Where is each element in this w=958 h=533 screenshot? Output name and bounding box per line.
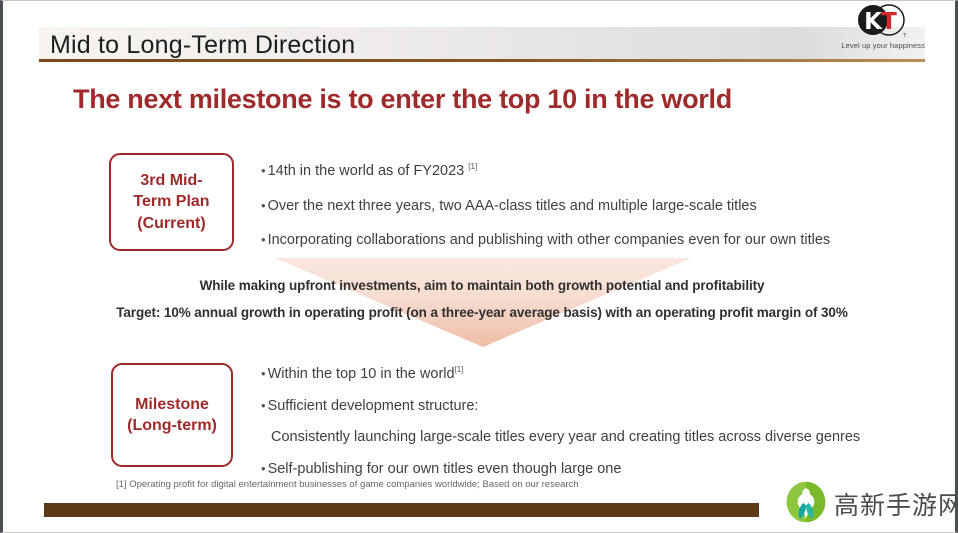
watermark: 高新手游网 (784, 478, 944, 528)
box2-line-2: (Long-term) (127, 417, 217, 434)
page-title: Mid to Long-Term Direction (50, 31, 355, 60)
bullet-marker: • (261, 232, 266, 247)
bullet-marker: • (261, 163, 266, 178)
bullet-item: •14th in the world as of FY2023 [1] (261, 162, 830, 182)
bullet-text: Sufficient development structure: (268, 398, 479, 414)
bullet-item-continuation: Consistently launching large-scale title… (261, 428, 860, 448)
middle-statement: While making upfront investments, aim to… (3, 278, 958, 320)
box1-line-2: Term Plan (133, 193, 209, 210)
box1-line-1: 3rd Mid- (140, 172, 202, 189)
bullet-marker: • (261, 198, 266, 213)
slide: Mid to Long-Term Direction K T TM Level … (0, 0, 958, 533)
bullet-item: •Within the top 10 in the world[1] (261, 365, 860, 385)
bullet-item: •Self-publishing for our own titles even… (261, 460, 860, 480)
footnote-ref: [1] (455, 365, 464, 374)
bullet-list-current-plan: •14th in the world as of FY2023 [1] •Ove… (261, 162, 830, 266)
bullet-marker: • (261, 398, 266, 413)
bullet-text: Over the next three years, two AAA-class… (268, 198, 757, 214)
middle-line-1: While making upfront investments, aim to… (3, 278, 958, 293)
watermark-logo-icon (784, 480, 828, 524)
bottom-accent-bar (44, 503, 759, 517)
footnote-ref: [1] (468, 162, 477, 171)
bullet-item: •Sufficient development structure: (261, 397, 860, 417)
svg-text:TM: TM (902, 33, 907, 39)
label-box-milestone: Milestone (Long-term) (111, 363, 233, 467)
bullet-text: Incorporating collaborations and publish… (268, 232, 831, 248)
label-box-3rd-mid-term-plan: 3rd Mid- Term Plan (Current) (109, 153, 234, 251)
bullet-text: Self-publishing for our own titles even … (268, 461, 622, 477)
main-heading: The next milestone is to enter the top 1… (73, 84, 732, 115)
bullet-marker: • (261, 366, 266, 381)
bullet-text: 14th in the world as of FY2023 (268, 163, 469, 179)
bullet-marker: • (261, 461, 266, 476)
bullet-text: Within the top 10 in the world (268, 366, 455, 382)
kt-logo-icon: K T TM (855, 3, 907, 41)
middle-line-2: Target: 10% annual growth in operating p… (3, 305, 958, 320)
kt-logo-tagline: Level up your happiness (817, 41, 925, 50)
footnote-text: [1] Operating profit for digital enterta… (116, 479, 579, 490)
bullet-item: •Over the next three years, two AAA-clas… (261, 197, 830, 217)
slide-header: Mid to Long-Term Direction (3, 15, 958, 61)
bullet-list-milestone: •Within the top 10 in the world[1] •Suff… (261, 365, 860, 491)
bullet-item: •Incorporating collaborations and publis… (261, 231, 830, 251)
watermark-text: 高新手游网 (834, 486, 958, 522)
box1-line-3: (Current) (137, 215, 205, 232)
svg-text:T: T (881, 9, 897, 35)
bullet-text: Consistently launching large-scale title… (271, 429, 860, 445)
kt-logo: K T TM Level up your happiness (817, 3, 925, 57)
box2-line-1: Milestone (135, 396, 209, 413)
svg-text:K: K (864, 9, 883, 35)
